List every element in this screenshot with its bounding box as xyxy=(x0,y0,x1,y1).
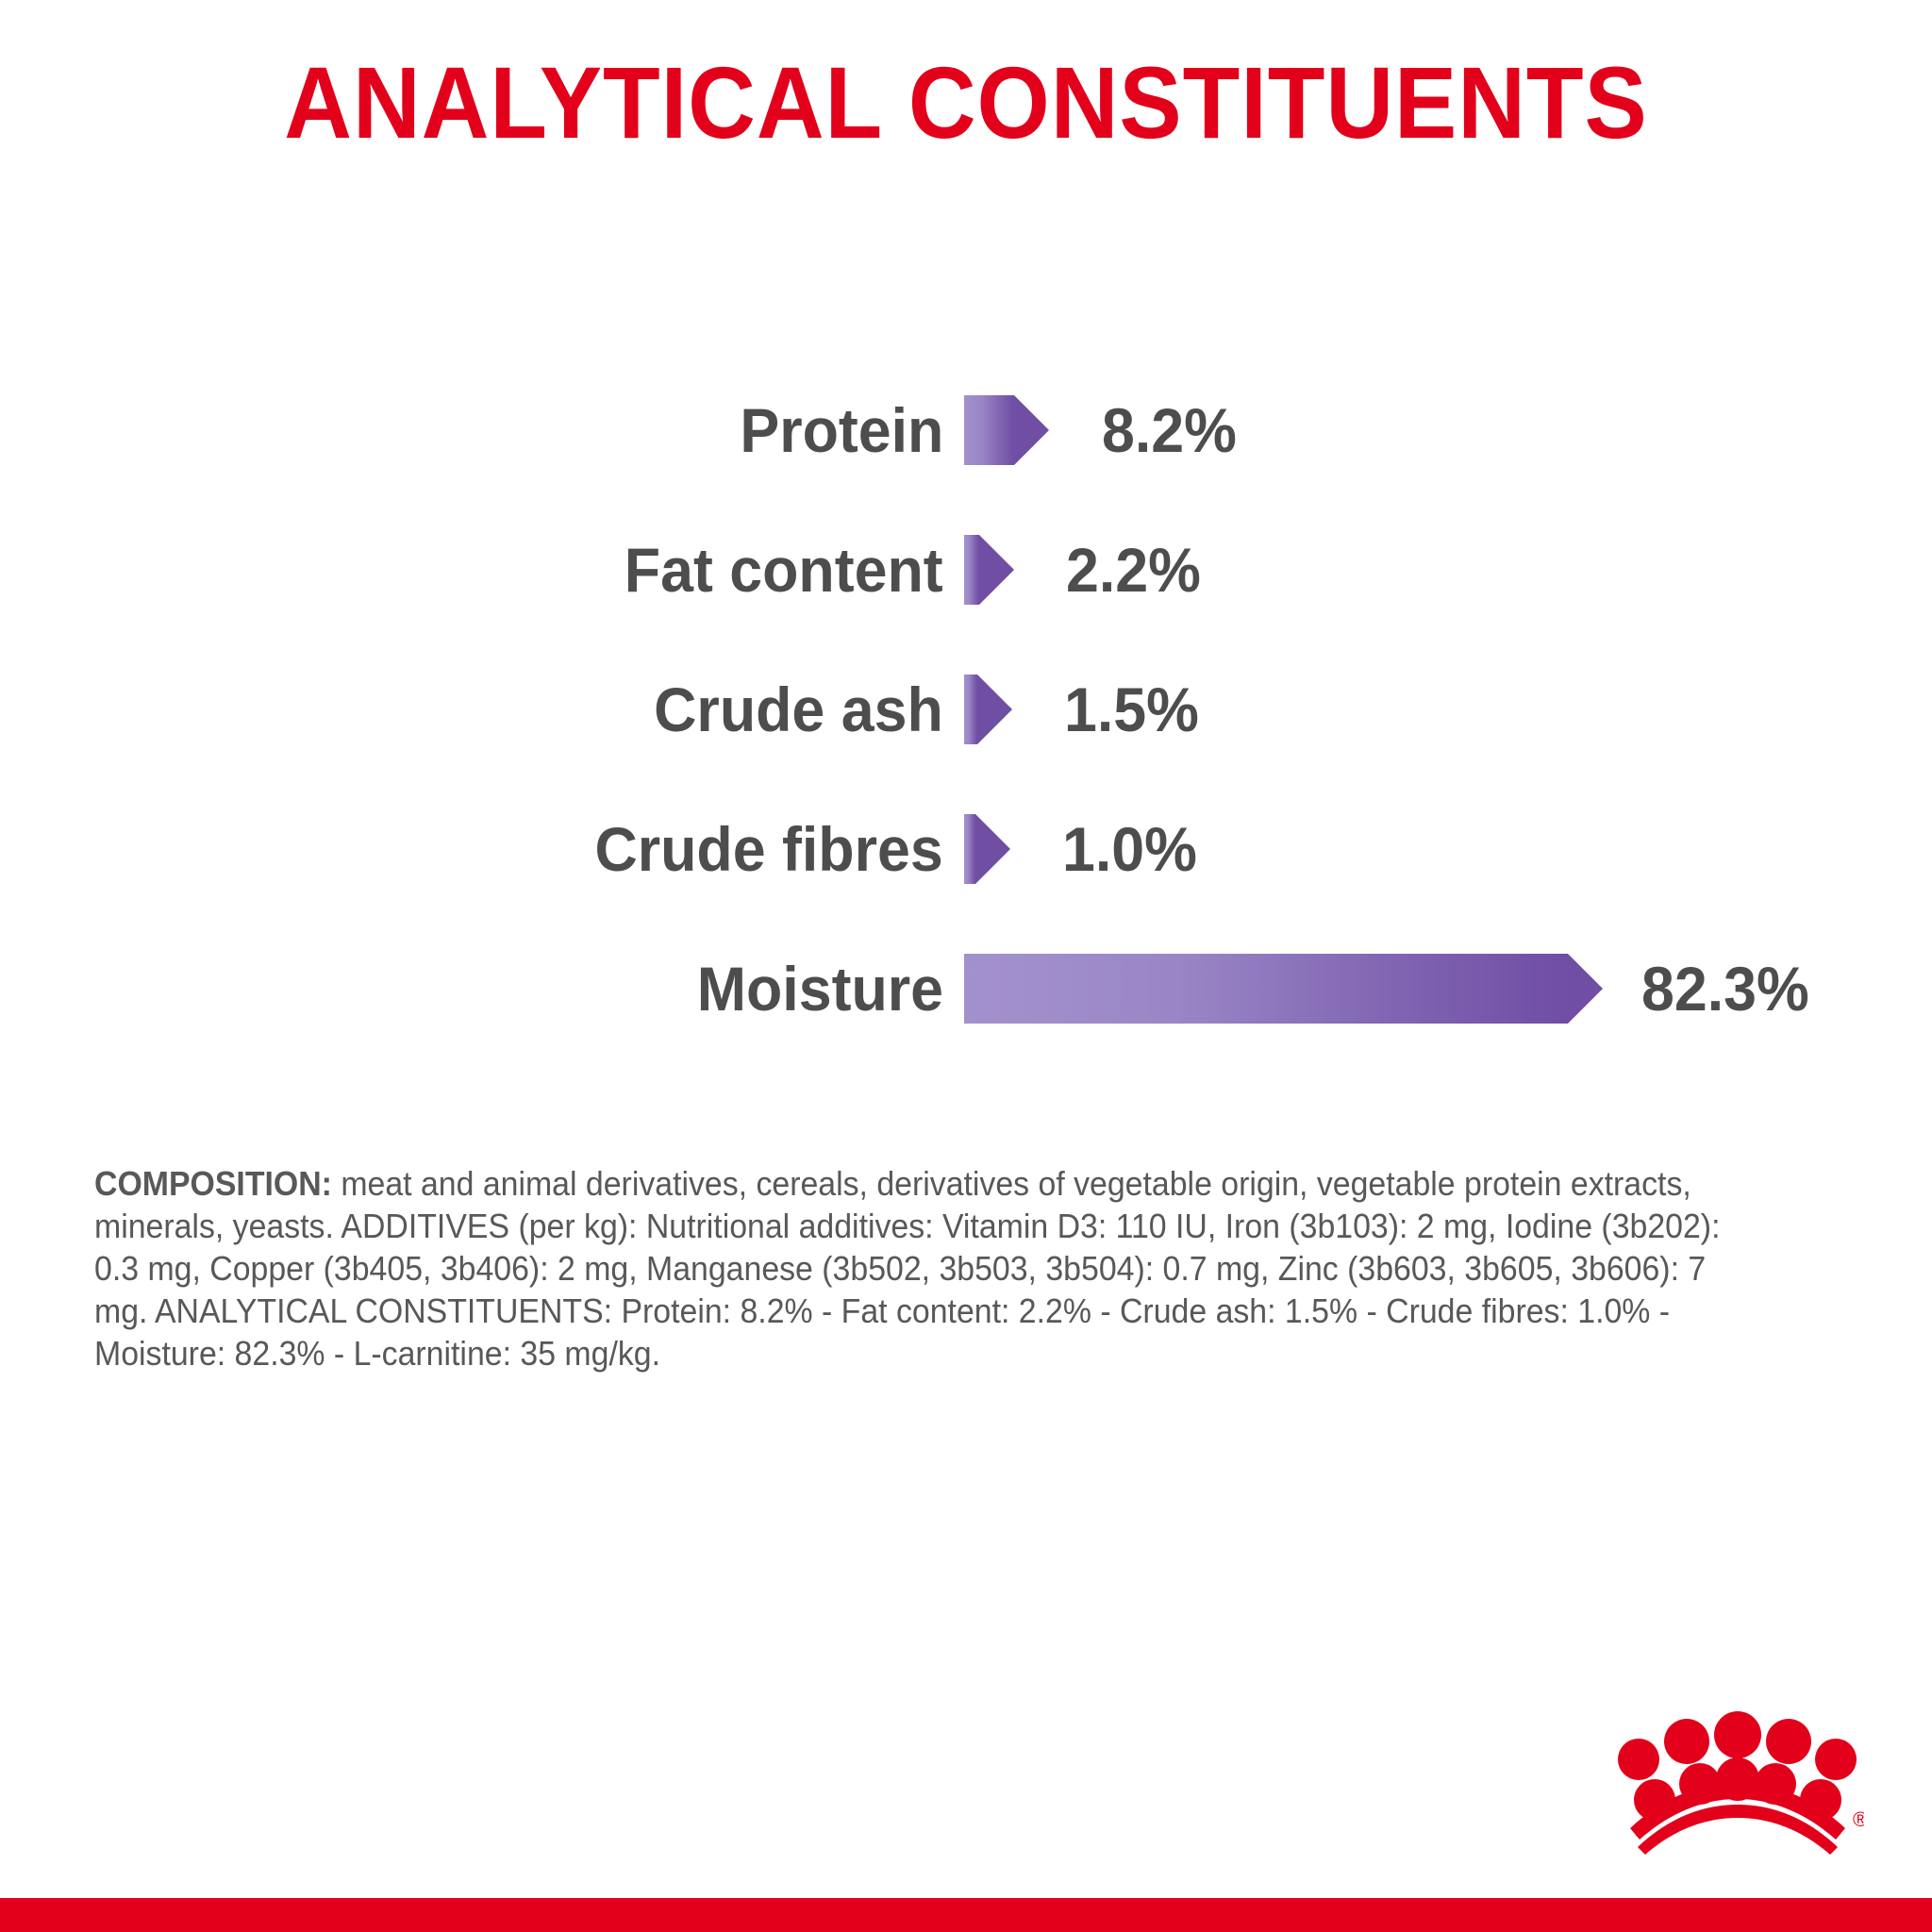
bar-arrow-tip-icon xyxy=(977,675,1012,744)
constituent-label: Crude fibres xyxy=(595,779,943,919)
bar-arrow-tip-icon xyxy=(1568,954,1603,1024)
constituent-bar-wrap xyxy=(964,779,975,919)
constituent-bar-wrap xyxy=(964,500,979,640)
page-title: ANALYTICAL CONSTITUENTS xyxy=(77,49,1855,156)
bar-arrow-tip-icon xyxy=(975,814,1010,884)
constituent-bar xyxy=(964,814,975,884)
constituent-row-fat-content: Fat content 2.2% xyxy=(0,500,1932,640)
bar-arrow-tip-icon xyxy=(979,535,1014,605)
constituent-label: Fat content xyxy=(625,500,943,640)
constituent-bar-wrap xyxy=(964,360,1014,500)
constituent-row-crude-fibres: Crude fibres 1.0% xyxy=(0,779,1932,919)
bottom-red-band xyxy=(0,1898,1932,1932)
constituent-label: Moisture xyxy=(697,919,943,1058)
constituent-value: 82.3% xyxy=(1641,919,1809,1058)
bar-arrow-tip-icon xyxy=(1014,395,1049,465)
constituent-bar xyxy=(964,395,1014,465)
constituent-bar-wrap xyxy=(964,640,977,779)
constituent-row-crude-ash: Crude ash 1.5% xyxy=(0,640,1932,779)
constituent-label: Protein xyxy=(740,360,943,500)
constituent-row-moisture: Moisture 82.3% xyxy=(0,919,1932,1058)
registered-trademark-mark: ® xyxy=(1853,1807,1864,1831)
constituent-value: 8.2% xyxy=(1102,360,1237,500)
constituent-bar xyxy=(964,954,1568,1024)
constituent-bar-wrap xyxy=(964,919,1568,1058)
constituent-value: 1.0% xyxy=(1062,779,1197,919)
constituent-bar xyxy=(964,675,977,744)
composition-heading: COMPOSITION: xyxy=(94,1164,332,1203)
composition-text: COMPOSITION: meat and animal derivatives… xyxy=(94,1162,1740,1374)
royal-canin-crown-logo: ® xyxy=(1609,1706,1864,1857)
composition-body: meat and animal derivatives, cereals, de… xyxy=(94,1164,1720,1373)
constituent-value: 1.5% xyxy=(1064,640,1199,779)
constituent-value: 2.2% xyxy=(1066,500,1201,640)
analytical-constituents-chart: Protein 8.2% Fat content 2.2% Crude ash … xyxy=(0,360,1932,1058)
constituent-bar xyxy=(964,535,979,605)
constituent-row-protein: Protein 8.2% xyxy=(0,360,1932,500)
constituent-label: Crude ash xyxy=(654,640,943,779)
